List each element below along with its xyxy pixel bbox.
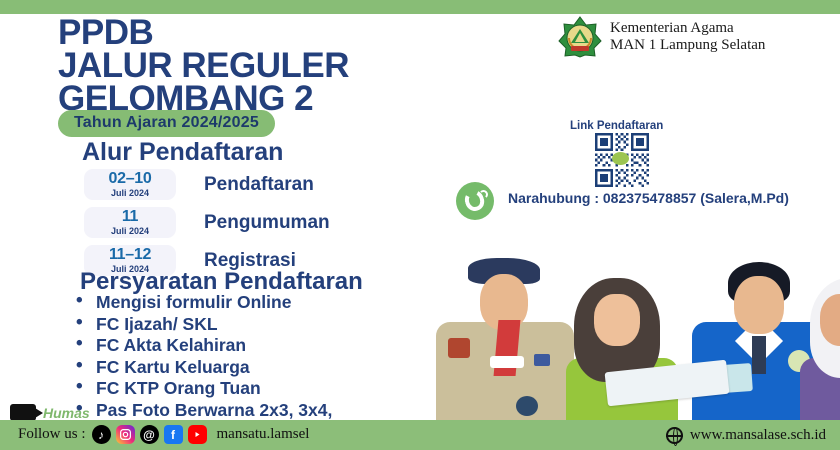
- students-photo: [410, 252, 840, 420]
- tiktok-icon[interactable]: ♪: [92, 425, 111, 444]
- website-url: www.mansalase.sch.id: [690, 427, 826, 444]
- poster-canvas: PPDB JALUR REGULER GELOMBANG 2 Tahun Aja…: [0, 0, 840, 450]
- title-line-2: JALUR REGULER: [58, 49, 349, 82]
- list-item: FC Akta Kelahiran: [72, 335, 462, 356]
- humas-label: Humas: [43, 405, 90, 421]
- flow-date-badge: 11 Juli 2024: [84, 207, 176, 238]
- list-item: FC Ijazah/ SKL: [72, 314, 462, 335]
- website-bar[interactable]: www.mansalase.sch.id: [666, 427, 826, 444]
- humas-logo: Humas: [10, 404, 90, 421]
- flow-section-title: Alur Pendaftaran: [82, 138, 283, 167]
- list-item: Pas Foto Berwarna 2x3, 3x4,: [72, 400, 462, 421]
- youtube-icon[interactable]: [188, 425, 207, 444]
- social-handle: mansatu.lamsel: [217, 426, 310, 443]
- top-green-bar: [0, 0, 840, 14]
- list-item: FC KTP Orang Tuan: [72, 378, 462, 399]
- threads-icon[interactable]: @: [140, 425, 159, 444]
- facebook-icon[interactable]: f: [164, 425, 183, 444]
- flow-step-row: 02–10 Juli 2024 Pendaftaran: [84, 168, 444, 201]
- flow-steps-list: 02–10 Juli 2024 Pendaftaran 11 Juli 2024…: [84, 168, 444, 282]
- student-purple-hijab: [800, 268, 840, 420]
- ministry-name: Kementerian Agama: [610, 20, 765, 37]
- list-item: Mengisi formulir Online: [72, 292, 462, 313]
- qr-center-logo: [612, 152, 629, 165]
- flow-step-label: Pengumuman: [204, 212, 330, 234]
- institution-header: Kementerian Agama MAN 1 Lampung Selatan: [558, 16, 765, 58]
- institution-name: Kementerian Agama MAN 1 Lampung Selatan: [610, 20, 765, 54]
- signal-wave-shape: [479, 190, 488, 199]
- flow-month: Juli 2024: [111, 189, 149, 198]
- flow-step-row: 11 Juli 2024 Pengumuman: [84, 206, 444, 239]
- globe-icon: [666, 427, 683, 444]
- flow-step-label: Pendaftaran: [204, 174, 314, 196]
- academic-year-badge: Tahun Ajaran 2024/2025: [58, 110, 275, 137]
- list-item: FC Kartu Keluarga: [72, 357, 462, 378]
- camera-icon: [10, 404, 36, 421]
- contact-text: Narahubung : 082375478857 (Salera,M.Pd): [508, 190, 789, 206]
- page-title: PPDB JALUR REGULER GELOMBANG 2: [58, 16, 349, 115]
- flow-month: Juli 2024: [111, 227, 149, 236]
- flow-date: 11–12: [109, 247, 151, 263]
- flow-date-badge: 02–10 Juli 2024: [84, 169, 176, 200]
- school-name: MAN 1 Lampung Selatan: [610, 37, 765, 54]
- flow-date: 02–10: [109, 171, 152, 187]
- instagram-icon[interactable]: [116, 425, 135, 444]
- flow-date: 11: [122, 209, 138, 225]
- registration-link-label: Link Pendaftaran: [570, 120, 663, 132]
- follow-us-label: Follow us :: [18, 426, 86, 443]
- follow-us-bar: Follow us : ♪ @ f mansatu.lamsel: [18, 425, 309, 444]
- kemenag-logo: [558, 16, 602, 58]
- phone-icon: [456, 182, 494, 220]
